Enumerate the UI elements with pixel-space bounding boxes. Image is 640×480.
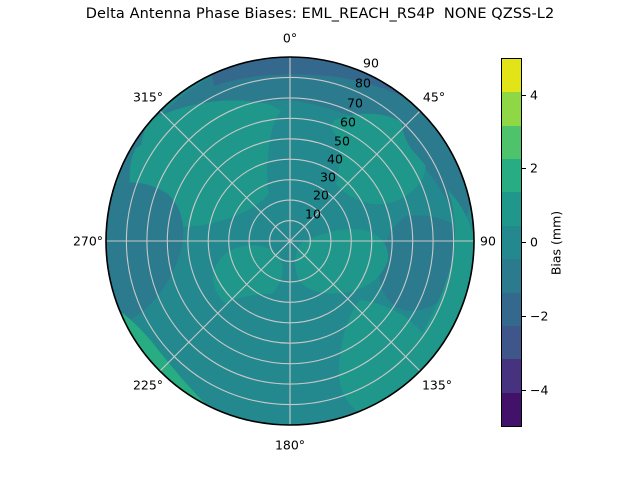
colorbar-tick-label-m4: −4 — [530, 383, 548, 398]
angular-tick-315: 315° — [133, 90, 163, 105]
colorbar-tick-mark-2 — [522, 168, 526, 169]
colorbar-swatch-8 — [502, 326, 521, 359]
colorbar-swatch-4 — [502, 192, 521, 225]
radial-tick-50: 50 — [334, 134, 350, 149]
angular-tick-90: 90 — [480, 234, 496, 249]
radial-tick-10: 10 — [305, 207, 321, 222]
colorbar-swatch-9 — [502, 359, 521, 392]
radial-tick-80: 80 — [355, 76, 371, 91]
colorbar-swatch-10 — [502, 393, 521, 426]
colorbar: 4 2 0 −2 −4 — [501, 58, 522, 427]
radial-tick-70: 70 — [347, 96, 363, 111]
colorbar-axis-label: Bias (mm) — [549, 211, 564, 275]
colorbar-swatch-7 — [502, 293, 521, 326]
angular-tick-270: 270° — [73, 234, 103, 249]
colorbar-tick-mark-m2 — [522, 316, 526, 317]
angular-tick-0: 0° — [283, 31, 297, 46]
colorbar-swatch-2 — [502, 126, 521, 159]
polar-grid-spokes — [106, 57, 474, 425]
angular-tick-180: 180° — [275, 438, 305, 453]
colorbar-tick-mark-0 — [522, 242, 526, 243]
radial-tick-90: 90 — [363, 56, 379, 71]
colorbar-swatch-0 — [502, 59, 521, 92]
colorbar-tick-label-4: 4 — [530, 88, 538, 103]
colorbar-swatch-5 — [502, 226, 521, 259]
radial-tick-30: 30 — [320, 170, 336, 185]
colorbar-tick-label-2: 2 — [530, 161, 538, 176]
angular-tick-225: 225° — [133, 378, 163, 393]
colorbar-swatch-3 — [502, 159, 521, 192]
radial-tick-40: 40 — [327, 152, 343, 167]
colorbar-tick-mark-m4 — [522, 390, 526, 391]
angular-tick-135: 135° — [422, 378, 452, 393]
colorbar-swatch-1 — [502, 92, 521, 125]
radial-tick-20: 20 — [313, 188, 329, 203]
figure-canvas: Delta Antenna Phase Biases: EML_REACH_RS… — [0, 0, 640, 480]
colorbar-tick-label-m2: −2 — [530, 309, 548, 324]
angular-tick-45: 45° — [423, 90, 445, 105]
colorbar-swatch-6 — [502, 259, 521, 292]
colorbar-gradient — [501, 58, 522, 427]
colorbar-tick-label-0: 0 — [530, 235, 538, 250]
radial-tick-60: 60 — [340, 115, 356, 130]
colorbar-tick-mark-4 — [522, 95, 526, 96]
